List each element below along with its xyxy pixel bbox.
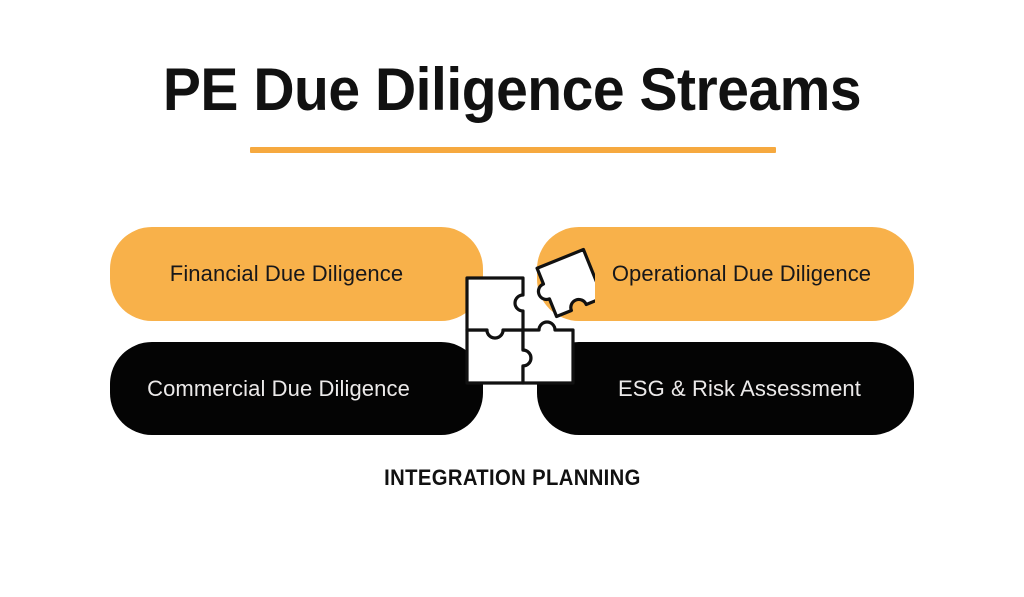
- stream-card-esg[interactable]: ESG & Risk Assessment: [537, 342, 914, 435]
- integration-planning-label: INTEGRATION PLANNING: [384, 465, 641, 491]
- stream-label-esg: ESG & Risk Assessment: [618, 376, 861, 402]
- title-underline-rule: [250, 147, 776, 153]
- footer-caption-block: INTEGRATION PLANNING: [0, 465, 1024, 491]
- stream-label-operational: Operational Due Diligence: [612, 261, 871, 287]
- stream-card-operational[interactable]: Operational Due Diligence: [537, 227, 914, 321]
- stream-label-commercial: Commercial Due Diligence: [147, 376, 410, 402]
- page-title: PE Due Diligence Streams: [26, 58, 999, 121]
- stream-label-financial: Financial Due Diligence: [170, 261, 403, 287]
- title-block: PE Due Diligence Streams: [0, 58, 1024, 121]
- stream-card-financial[interactable]: Financial Due Diligence: [110, 227, 483, 321]
- stream-card-commercial[interactable]: Commercial Due Diligence: [110, 342, 483, 435]
- infographic-canvas: PE Due Diligence Streams Financial Due D…: [0, 0, 1024, 597]
